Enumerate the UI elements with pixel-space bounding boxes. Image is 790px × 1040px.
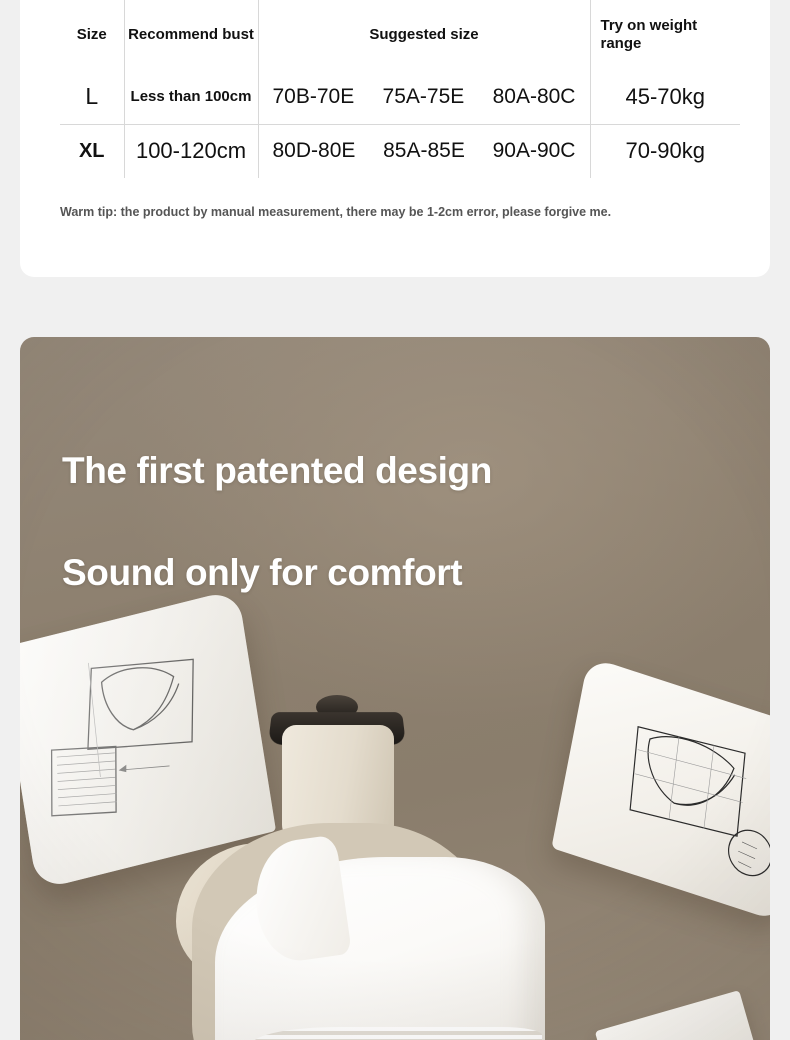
- white-garment-shirring: [252, 1027, 542, 1040]
- suggested-size-value: 80A-80C: [493, 85, 576, 109]
- suggested-size-value: 75A-75E: [383, 85, 465, 109]
- column-header-try-on-weight: Try on weight range: [590, 0, 740, 70]
- column-header-recommend-bust: Recommend bust: [124, 0, 258, 70]
- cell-bust: Less than 100cm: [124, 70, 258, 124]
- table-row: L Less than 100cm 70B-70E 75A-75E 80A-80…: [60, 70, 740, 124]
- suggested-size-value: 85A-85E: [383, 139, 465, 163]
- cell-suggested-size: 70B-70E 75A-75E 80A-80C: [258, 70, 590, 124]
- cell-size: L: [60, 70, 124, 124]
- column-header-suggested-size: Suggested size: [258, 0, 590, 70]
- cell-weight: 45-70kg: [590, 70, 740, 124]
- cell-weight: 70-90kg: [590, 124, 740, 178]
- size-chart-head: Size Recommend bust Suggested size Try o…: [60, 0, 740, 70]
- table-header-row: Size Recommend bust Suggested size Try o…: [60, 0, 740, 70]
- size-chart-table: Size Recommend bust Suggested size Try o…: [60, 0, 740, 178]
- warm-tip-text: Warm tip: the product by manual measurem…: [60, 204, 630, 222]
- product-detail-page: Size Recommend bust Suggested size Try o…: [0, 0, 790, 1040]
- suggested-size-value: 70B-70E: [273, 85, 355, 109]
- table-row: XL 100-120cm 80D-80E 85A-85E 90A-90C 70-…: [60, 124, 740, 178]
- hero-headline-primary: The first patented design: [62, 450, 492, 492]
- hero-headline-secondary: Sound only for comfort: [62, 552, 462, 594]
- size-chart-card: Size Recommend bust Suggested size Try o…: [20, 0, 770, 277]
- size-chart-body: L Less than 100cm 70B-70E 75A-75E 80A-80…: [60, 70, 740, 178]
- cell-size: XL: [60, 124, 124, 178]
- small-paper-scrap: [595, 990, 765, 1040]
- column-header-size: Size: [60, 0, 124, 70]
- cell-bust: 100-120cm: [124, 124, 258, 178]
- suggested-size-value: 80D-80E: [273, 139, 356, 163]
- cell-suggested-size: 80D-80E 85A-85E 90A-90C: [258, 124, 590, 178]
- suggested-size-value: 90A-90C: [493, 139, 576, 163]
- hero-banner-card: The first patented design Sound only for…: [20, 337, 770, 1040]
